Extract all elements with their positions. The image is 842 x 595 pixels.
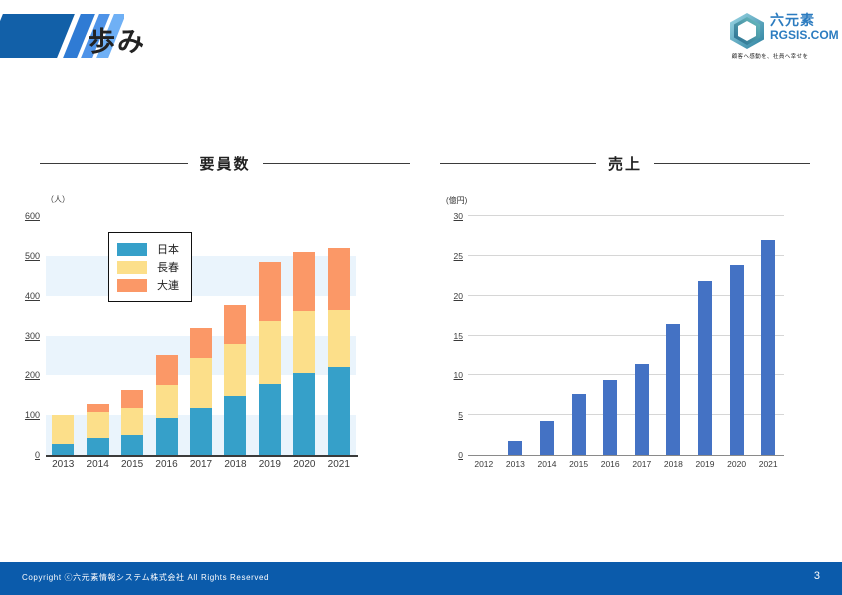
sales-x-tick: 2018 <box>664 459 683 469</box>
sales-x-tick: 2021 <box>759 459 778 469</box>
table-row <box>121 390 143 455</box>
bar-segment-japan <box>328 367 350 455</box>
title-rule-left <box>40 163 188 164</box>
headcount-chart-header: 要員数 <box>40 150 410 176</box>
headcount-y-tick: 500 <box>25 251 40 261</box>
legend-label: 大連 <box>157 277 179 293</box>
bar-segment-japan <box>293 373 315 455</box>
sales-chart-title: 売上 <box>608 153 642 174</box>
sales-bar <box>572 394 586 455</box>
bar-segment-japan <box>259 384 281 455</box>
headcount-legend: 日本長春大連 <box>108 232 192 302</box>
sales-x-tick: 2013 <box>506 459 525 469</box>
sales-x-tick: 2014 <box>538 459 557 469</box>
headcount-x-tick: 2015 <box>121 459 143 470</box>
sales-chart: 売上 <box>440 150 810 176</box>
table-row <box>190 328 212 455</box>
slide: 歩み 六元素 <box>0 0 842 595</box>
sales-y-tick: 30 <box>454 211 463 221</box>
sales-y-unit: (億円) <box>446 195 467 206</box>
sales-bar <box>666 324 680 455</box>
table-row <box>224 305 246 455</box>
slide-header: 歩み 六元素 <box>0 0 842 78</box>
legend-item: 長春 <box>117 258 179 276</box>
title-rule-right <box>263 163 411 164</box>
bar-segment-changchun <box>87 412 109 438</box>
sales-y-tick: 5 <box>458 410 463 420</box>
copyright-text: Copyright ⓒ六元素情報システム株式会社 All Rights Rese… <box>22 572 269 583</box>
sales-bars <box>468 216 784 455</box>
bar-segment-japan <box>224 396 246 455</box>
bar-segment-dalian <box>293 252 315 311</box>
sales-x-tick: 2016 <box>601 459 620 469</box>
bar-segment-dalian <box>328 248 350 310</box>
sales-x-tick: 2012 <box>474 459 493 469</box>
headcount-y-tick: 400 <box>25 291 40 301</box>
sales-bar <box>603 380 617 455</box>
sales-y-tick: 10 <box>454 370 463 380</box>
table-row <box>293 252 315 455</box>
headcount-y-unit: （人） <box>46 194 70 205</box>
table-row <box>52 415 74 455</box>
sales-bar <box>698 281 712 455</box>
headcount-bars <box>46 216 356 455</box>
title-rule-left <box>440 163 596 164</box>
sales-bar <box>761 240 775 455</box>
legend-label: 長春 <box>157 259 179 275</box>
hexagon-logo-icon <box>728 12 766 50</box>
sales-x-axis-line <box>468 455 784 456</box>
headcount-y-tick: 100 <box>25 410 40 420</box>
bar-segment-changchun <box>224 344 246 396</box>
sales-y-tick: 15 <box>454 331 463 341</box>
headcount-x-tick: 2014 <box>87 459 109 470</box>
headcount-y-tick: 0 <box>35 450 40 460</box>
headcount-y-tick: 300 <box>25 331 40 341</box>
headcount-x-tick: 2019 <box>259 459 281 470</box>
sales-bar <box>730 265 744 455</box>
headcount-x-labels: 201320142015201620172018201920202021 <box>46 459 356 475</box>
legend-swatch-icon <box>117 261 147 274</box>
table-row <box>328 248 350 455</box>
sales-y-axis: 051015202530 <box>430 216 468 455</box>
legend-item: 大連 <box>117 276 179 294</box>
legend-label: 日本 <box>157 241 179 257</box>
bar-segment-japan <box>52 444 74 455</box>
headcount-x-tick: 2013 <box>52 459 74 470</box>
headcount-chart: 要員数 <box>40 150 410 176</box>
bar-segment-japan <box>121 435 143 455</box>
logo-domain: RGSIS.COM <box>770 28 839 42</box>
headcount-y-tick: 600 <box>25 211 40 221</box>
sales-x-tick: 2020 <box>727 459 746 469</box>
bar-segment-changchun <box>121 408 143 435</box>
headcount-x-tick: 2017 <box>190 459 212 470</box>
logo-tagline: 顧客へ感動を、社員へ幸せを <box>708 52 832 60</box>
bar-segment-changchun <box>156 385 178 418</box>
headcount-x-tick: 2021 <box>328 459 350 470</box>
sales-x-tick: 2019 <box>696 459 715 469</box>
legend-swatch-icon <box>117 279 147 292</box>
bar-segment-changchun <box>328 310 350 368</box>
page-title: 歩み <box>88 20 146 59</box>
company-logo: 六元素 RGSIS.COM 顧客へ感動を、社員へ幸せを <box>708 10 832 68</box>
legend-swatch-icon <box>117 243 147 256</box>
sales-bar <box>635 364 649 455</box>
bar-segment-japan <box>190 408 212 455</box>
table-row <box>87 404 109 455</box>
sales-chart-header: 売上 <box>440 150 810 176</box>
sales-x-tick: 2017 <box>632 459 651 469</box>
sales-y-tick: 25 <box>454 251 463 261</box>
logo-name: 六元素 <box>770 12 839 28</box>
headcount-x-tick: 2020 <box>293 459 315 470</box>
page-number: 3 <box>814 570 820 582</box>
bar-segment-dalian <box>121 390 143 408</box>
bar-segment-japan <box>87 438 109 455</box>
bar-segment-changchun <box>52 415 74 444</box>
bar-segment-japan <box>156 418 178 455</box>
bar-segment-changchun <box>293 311 315 373</box>
bar-segment-dalian <box>259 262 281 321</box>
bar-segment-dalian <box>87 404 109 412</box>
table-row <box>259 262 281 455</box>
bar-segment-dalian <box>224 305 246 344</box>
sales-x-tick: 2015 <box>569 459 588 469</box>
headcount-chart-title: 要員数 <box>200 153 251 174</box>
title-rule-right <box>654 163 810 164</box>
headcount-y-tick: 200 <box>25 370 40 380</box>
headcount-y-axis: 0100200300400500600 <box>0 216 46 455</box>
bar-segment-changchun <box>190 358 212 408</box>
sales-y-tick: 0 <box>458 450 463 460</box>
slide-footer: Copyright ⓒ六元素情報システム株式会社 All Rights Rese… <box>0 562 842 595</box>
logo-wordmark: 六元素 RGSIS.COM <box>770 12 839 42</box>
sales-bar <box>508 441 522 455</box>
sales-x-labels: 2012201320142015201620172018201920202021 <box>468 459 784 475</box>
legend-item: 日本 <box>117 240 179 258</box>
bar-segment-changchun <box>259 321 281 384</box>
bar-segment-dalian <box>190 328 212 357</box>
bar-segment-dalian <box>156 355 178 385</box>
sales-bar <box>540 421 554 455</box>
headcount-x-tick: 2018 <box>224 459 246 470</box>
table-row <box>156 355 178 455</box>
sales-y-tick: 20 <box>454 291 463 301</box>
headcount-x-axis-line <box>46 455 358 457</box>
headcount-x-tick: 2016 <box>155 459 177 470</box>
